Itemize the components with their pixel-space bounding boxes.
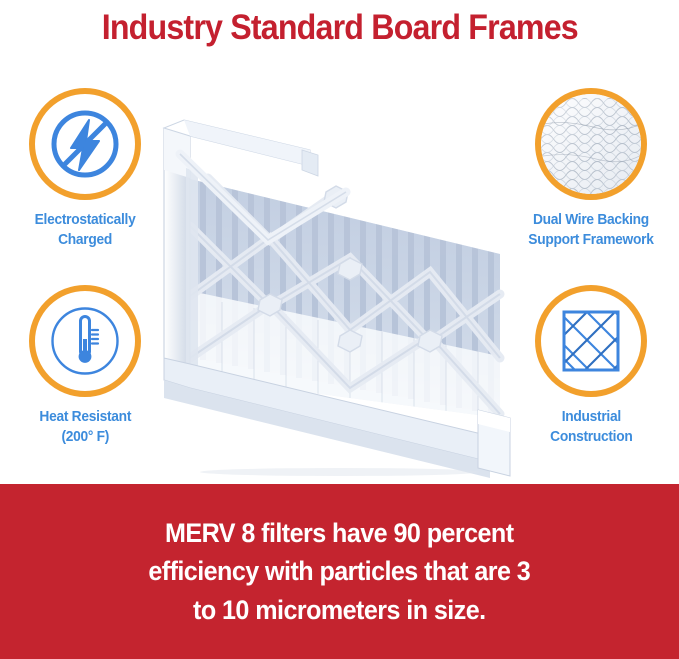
thermometer-icon (29, 285, 141, 397)
feature-label-line-1: Electrostatically (35, 212, 136, 228)
lightning-bolt-no-static-icon (29, 88, 141, 200)
wire-mesh-photo-icon (535, 88, 647, 200)
feature-industrial-construction: Industrial Construction (506, 285, 676, 447)
feature-label-electrostatically-charged: Electrostatically Charged (35, 210, 136, 250)
feature-label-line-2: (200° F) (61, 429, 109, 445)
feature-label-line-2: Support Framework (528, 232, 653, 248)
feature-label-line-2: Charged (58, 232, 112, 248)
feature-label-industrial-construction: Industrial Construction (550, 407, 632, 447)
feature-electrostatically-charged: Electrostatically Charged (0, 88, 170, 250)
page-title-text: Industry Standard Board Frames (101, 8, 577, 48)
lattice-square-icon (535, 285, 647, 397)
feature-label-line-1: Dual Wire Backing (533, 212, 649, 228)
bottom-banner: MERV 8 filters have 90 percent efficienc… (0, 484, 679, 659)
feature-label-line-1: Industrial (561, 409, 620, 425)
feature-label-dual-wire-backing: Dual Wire Backing Support Framework (528, 210, 653, 250)
product-image-pleated-air-filter (150, 58, 530, 478)
feature-heat-resistant: Heat Resistant (200° F) (0, 285, 170, 447)
banner-line-3: to 10 micrometers in size. (193, 595, 486, 625)
bottom-banner-text: MERV 8 filters have 90 percent efficienc… (117, 514, 562, 629)
feature-label-line-1: Heat Resistant (39, 409, 131, 425)
banner-line-2: efficiency with particles that are 3 (149, 556, 531, 586)
feature-label-heat-resistant: Heat Resistant (200° F) (39, 407, 131, 447)
banner-line-1: MERV 8 filters have 90 percent (165, 518, 513, 548)
feature-dual-wire-backing: Dual Wire Backing Support Framework (506, 88, 676, 250)
page-title: Industry Standard Board Frames (0, 0, 679, 56)
feature-label-line-2: Construction (550, 429, 632, 445)
